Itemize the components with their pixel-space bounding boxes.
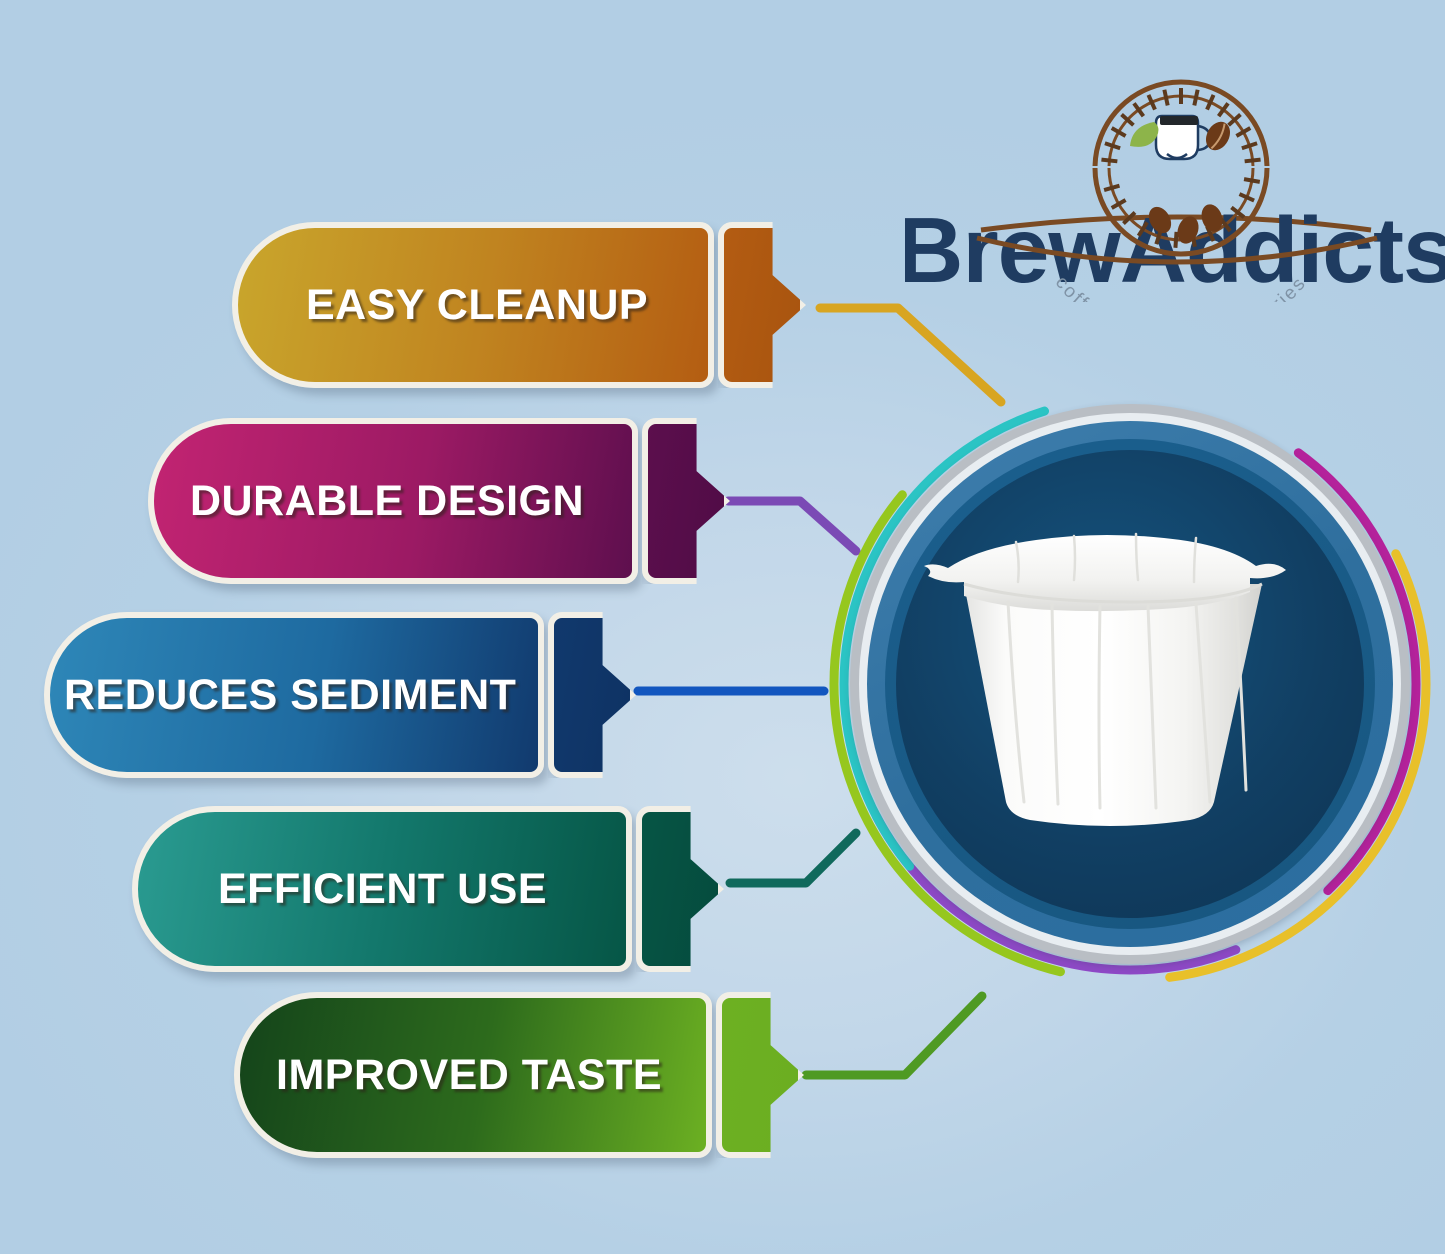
product-circle	[828, 382, 1432, 986]
banner-body[interactable]: REDUCES SEDIMENT	[44, 612, 544, 778]
banner-arrow-tip	[716, 992, 804, 1158]
connector-improved-taste	[806, 996, 982, 1075]
banner-arrow-tip	[718, 222, 806, 388]
feature-banner-improved-taste[interactable]: IMPROVED TASTE	[234, 992, 770, 1158]
brand-logo: BrewAddicts	[905, 72, 1445, 302]
banner-body[interactable]: DURABLE DESIGN	[148, 418, 638, 584]
feature-banner-durable-design[interactable]: DURABLE DESIGN	[148, 418, 693, 584]
banner-arrow-tip	[642, 418, 730, 584]
banner-label: EFFICIENT USE	[218, 865, 547, 914]
banner-body[interactable]: EFFICIENT USE	[132, 806, 632, 972]
feature-banner-reduces-sediment[interactable]: REDUCES SEDIMENT	[44, 612, 604, 778]
coffee-filter-image	[896, 522, 1364, 852]
infographic-canvas: BrewAddicts	[0, 0, 1445, 1254]
banner-label: REDUCES SEDIMENT	[64, 671, 516, 720]
coffee-cup-icon	[1156, 116, 1210, 159]
banner-label: IMPROVED TASTE	[276, 1051, 662, 1100]
leaf-icon	[1130, 122, 1158, 147]
banner-label: DURABLE DESIGN	[190, 477, 584, 526]
banner-label: EASY CLEANUP	[306, 281, 648, 330]
feature-banner-efficient-use[interactable]: EFFICIENT USE	[132, 806, 690, 972]
brand-wordmark: BrewAddicts	[905, 198, 1445, 302]
banner-body[interactable]: EASY CLEANUP	[232, 222, 714, 388]
feature-banner-easy-cleanup[interactable]: EASY CLEANUP	[232, 222, 766, 388]
banner-arrow-tip	[636, 806, 724, 972]
banner-arrow-tip	[548, 612, 636, 778]
banner-body[interactable]: IMPROVED TASTE	[234, 992, 712, 1158]
